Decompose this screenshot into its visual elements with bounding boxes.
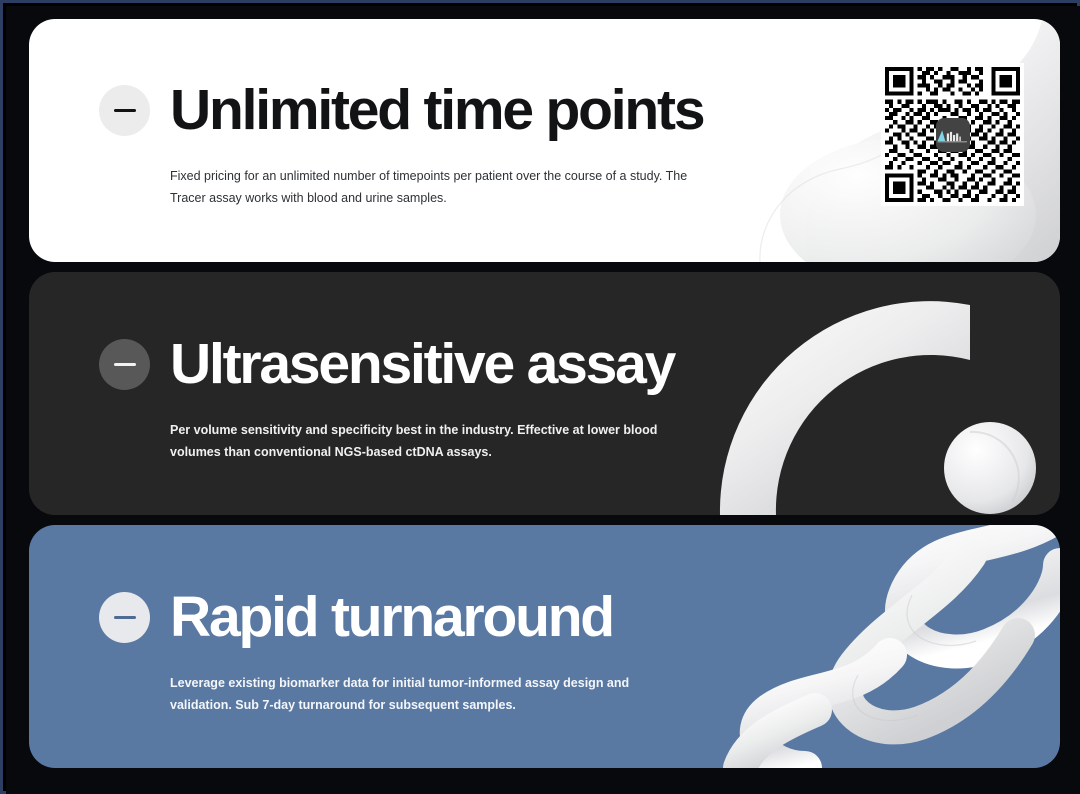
decoration-white-3d-coil-spiral [640, 525, 1060, 768]
accordion-title: Ultrasensitive assay [170, 336, 674, 393]
minus-icon-bar [114, 109, 136, 112]
minus-icon[interactable] [99, 85, 150, 136]
decoration-white-3d-torus-ring [640, 272, 1060, 515]
accordion-header-ultrasensitive-assay[interactable]: Ultrasensitive assay [99, 336, 674, 393]
accordion-body-text: Fixed pricing for an unlimited number of… [170, 166, 690, 209]
minus-icon[interactable] [99, 592, 150, 643]
accordion-stage: Unlimited time points Fixed pricing for … [6, 6, 1080, 794]
accordion-body-text: Leverage existing biomarker data for ini… [170, 673, 690, 716]
accordion-panel-ultrasensitive-assay[interactable]: Ultrasensitive assay Per volume sensitiv… [29, 272, 1060, 515]
screen-frame: Unlimited time points Fixed pricing for … [0, 0, 1080, 794]
minus-icon-bar [114, 616, 136, 619]
accordion-panel-rapid-turnaround[interactable]: Rapid turnaround Leverage existing bioma… [29, 525, 1060, 768]
minus-icon-bar [114, 363, 136, 366]
accordion-header-unlimited-time-points[interactable]: Unlimited time points [99, 82, 703, 139]
qr-code[interactable] [881, 63, 1024, 206]
qr-center-logo [936, 118, 970, 152]
accordion-title: Unlimited time points [170, 82, 703, 139]
accordion-body-text: Per volume sensitivity and specificity b… [170, 420, 690, 463]
accordion-panel-unlimited-time-points[interactable]: Unlimited time points Fixed pricing for … [29, 19, 1060, 262]
minus-icon[interactable] [99, 339, 150, 390]
accordion-title: Rapid turnaround [170, 589, 613, 646]
accordion-header-rapid-turnaround[interactable]: Rapid turnaround [99, 589, 613, 646]
